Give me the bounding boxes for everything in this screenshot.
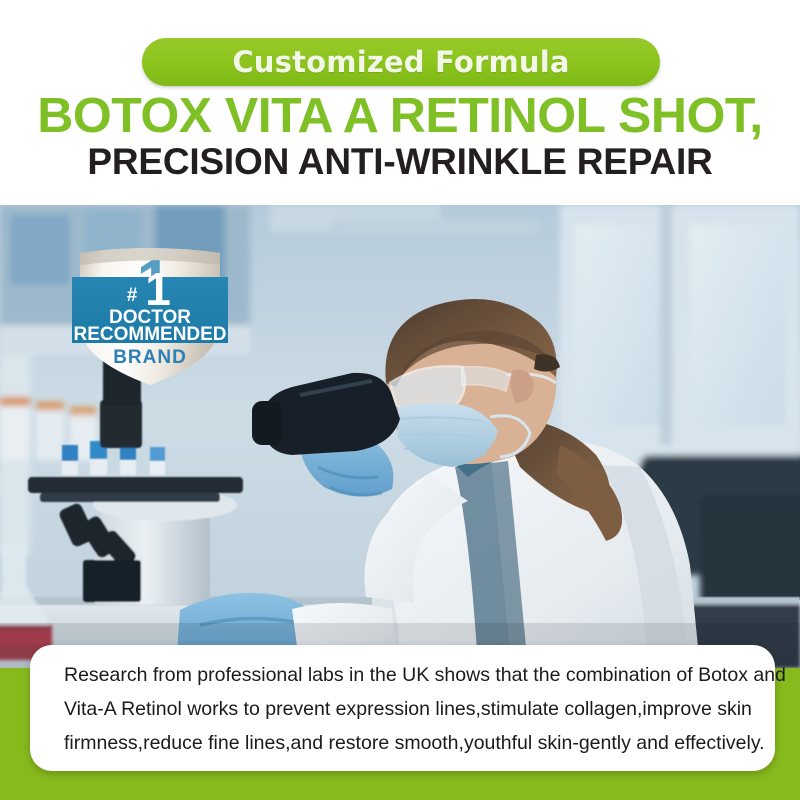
info-line-2: Vita-A Retinol works to prevent expressi… — [64, 692, 741, 726]
header-section: Customized Formula BOTOX VITA A RETINOL … — [0, 0, 800, 205]
customized-formula-pill[interactable]: Customized Formula — [142, 38, 660, 86]
page-subtitle: PRECISION ANTI-WRINKLE REPAIR — [0, 143, 800, 180]
promo-banner: Customized Formula BOTOX VITA A RETINOL … — [0, 0, 800, 800]
badge-shield-icon: 1 # 1 DOCTOR RECOMMENDED BRAND — [70, 247, 230, 389]
badge-line-recommended: RECOMMENDED — [73, 324, 226, 345]
research-info-card: Research from professional labs in the U… — [30, 645, 775, 771]
badge-hash: # — [127, 285, 138, 306]
doctor-recommended-badge: 1 # 1 DOCTOR RECOMMENDED BRAND — [70, 247, 230, 389]
info-line-1: Research from professional labs in the U… — [64, 658, 741, 692]
pill-label: Customized Formula — [232, 45, 569, 79]
badge-line-brand: BRAND — [113, 347, 187, 368]
page-title: BOTOX VITA A RETINOL SHOT, — [0, 92, 800, 141]
info-line-3: firmness,reduce fine lines,and restore s… — [64, 726, 741, 760]
